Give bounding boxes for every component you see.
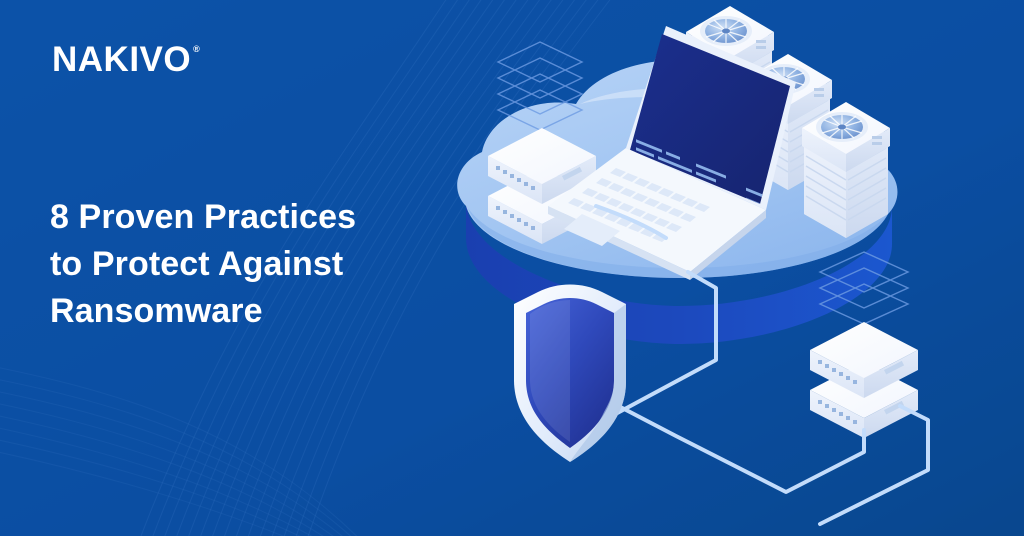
logo-wordmark: NAKIVO	[52, 42, 191, 77]
cooling-fan-right	[816, 112, 868, 142]
server-tower-right	[802, 102, 890, 238]
cooling-fan-left	[700, 16, 752, 46]
registered-trademark-symbol: ®	[193, 45, 200, 54]
isometric-scene	[430, 0, 1024, 536]
headline-line-1: 8 Proven Practices	[50, 194, 470, 241]
security-shield	[514, 285, 626, 463]
network-switch-lower-right	[810, 322, 918, 438]
headline-line-2: to Protect Against	[50, 241, 470, 288]
marketing-banner: NAKIVO ® 8 Proven Practices to Protect A…	[0, 0, 1024, 536]
headline: 8 Proven Practices to Protect Against Ra…	[50, 194, 470, 335]
brand-logo: NAKIVO ®	[52, 42, 200, 77]
headline-line-3: Ransomware	[50, 288, 470, 335]
hero-illustration	[430, 0, 1024, 536]
